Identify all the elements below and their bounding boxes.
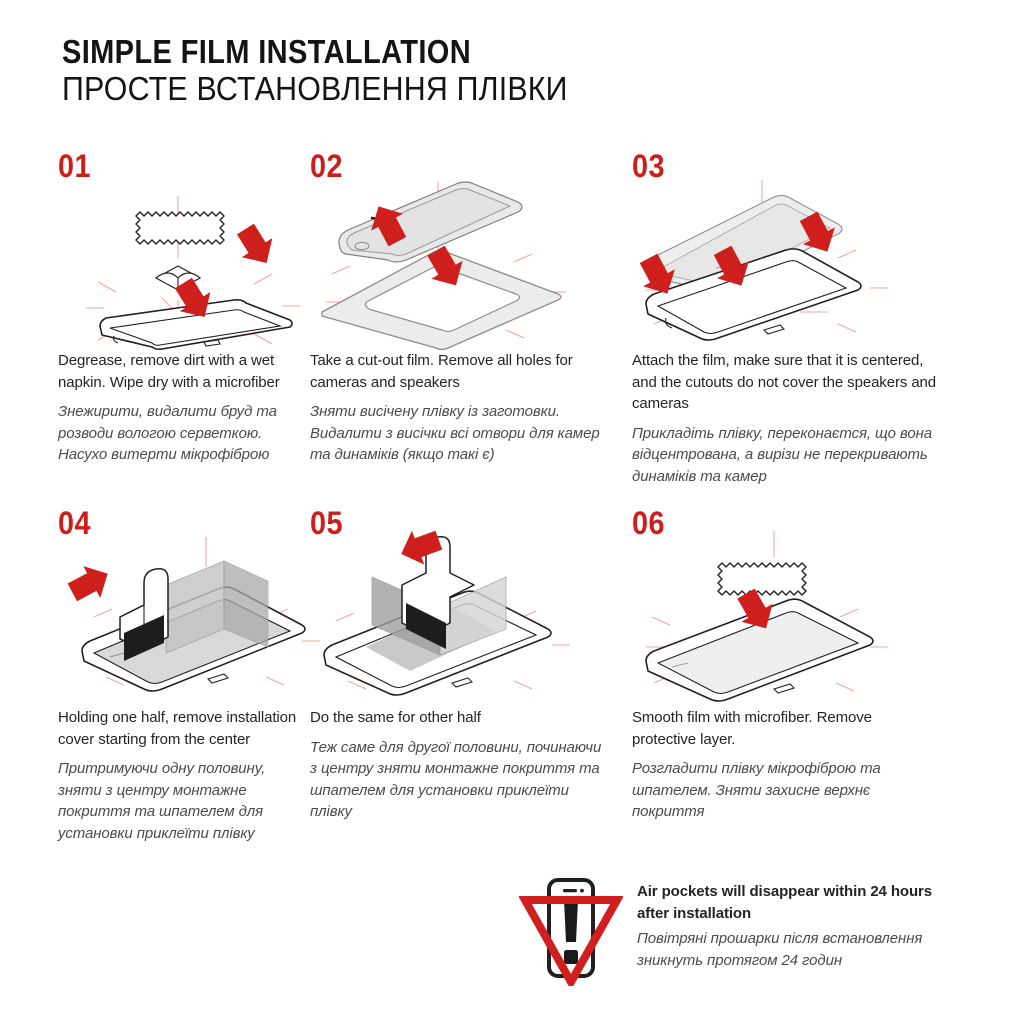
step-text-ua-03: Прикладіть плівку, переконаєтся, що вона…: [632, 423, 938, 488]
step-text-ua-05: Теж саме для другої половини, починаючи …: [310, 737, 610, 823]
note-text-block: Air pockets will disappear within 24 hou…: [637, 874, 973, 971]
step-text-ua-02: Зняти висічену плівку із заготовки. Вида…: [310, 401, 610, 466]
step-text-ua-01: Знежирити, видалити бруд та розводи воло…: [58, 401, 310, 466]
step-text-en-04: Holding one half, remove installation co…: [58, 707, 310, 750]
step-text-en-01: Degrease, remove dirt with a wet napkin.…: [58, 350, 310, 393]
note-text-ua: Повітряні прошарки після встановлення зн…: [637, 928, 973, 971]
smooth-with-microfiber-icon: [632, 519, 968, 691]
napkin-and-phone-icon: [58, 162, 310, 334]
page-title-ua: ПРОСТЕ ВСТАНОВЛЕННЯ ПЛІВКИ: [62, 71, 568, 107]
cutout-film-peel-icon: [310, 162, 622, 334]
step-text-en-03: Attach the film, make sure that it is ce…: [632, 350, 938, 415]
note-text-en: Air pockets will disappear within 24 hou…: [637, 881, 967, 924]
step-01: 01: [0, 150, 310, 487]
steps-grid: 01: [0, 150, 1024, 844]
steps-row-2: 04: [0, 507, 1024, 844]
page-title-en: SIMPLE FILM INSTALLATION: [62, 34, 546, 70]
air-pockets-note: Air pockets will disappear within 24 hou…: [519, 874, 973, 986]
peel-cover-left-half-icon: [58, 519, 310, 691]
peel-cover-right-half-icon: [310, 519, 622, 691]
step-03: 03: [622, 150, 968, 487]
step-text-en-02: Take a cut-out film. Remove all holes fo…: [310, 350, 610, 393]
step-05: 05: [310, 507, 622, 844]
attach-film-to-phone-icon: [632, 162, 968, 334]
step-02: 02: [310, 150, 622, 487]
step-06: 06: [622, 507, 968, 844]
step-04: 04: [0, 507, 310, 844]
warning-phone-exclamation-icon: [519, 874, 623, 986]
steps-row-1: 01: [0, 150, 1024, 487]
step-text-ua-06: Розгладити плівку мікрофіброю та шпателе…: [632, 758, 938, 823]
step-text-ua-04: Притримуючи одну половину, зняти з центр…: [58, 758, 310, 844]
page-header: SIMPLE FILM INSTALLATION ПРОСТЕ ВСТАНОВЛ…: [62, 34, 612, 107]
infographic-page: SIMPLE FILM INSTALLATION ПРОСТЕ ВСТАНОВЛ…: [0, 0, 1024, 1024]
step-text-en-05: Do the same for other half: [310, 707, 610, 729]
step-text-en-06: Smooth film with microfiber. Remove prot…: [632, 707, 938, 750]
